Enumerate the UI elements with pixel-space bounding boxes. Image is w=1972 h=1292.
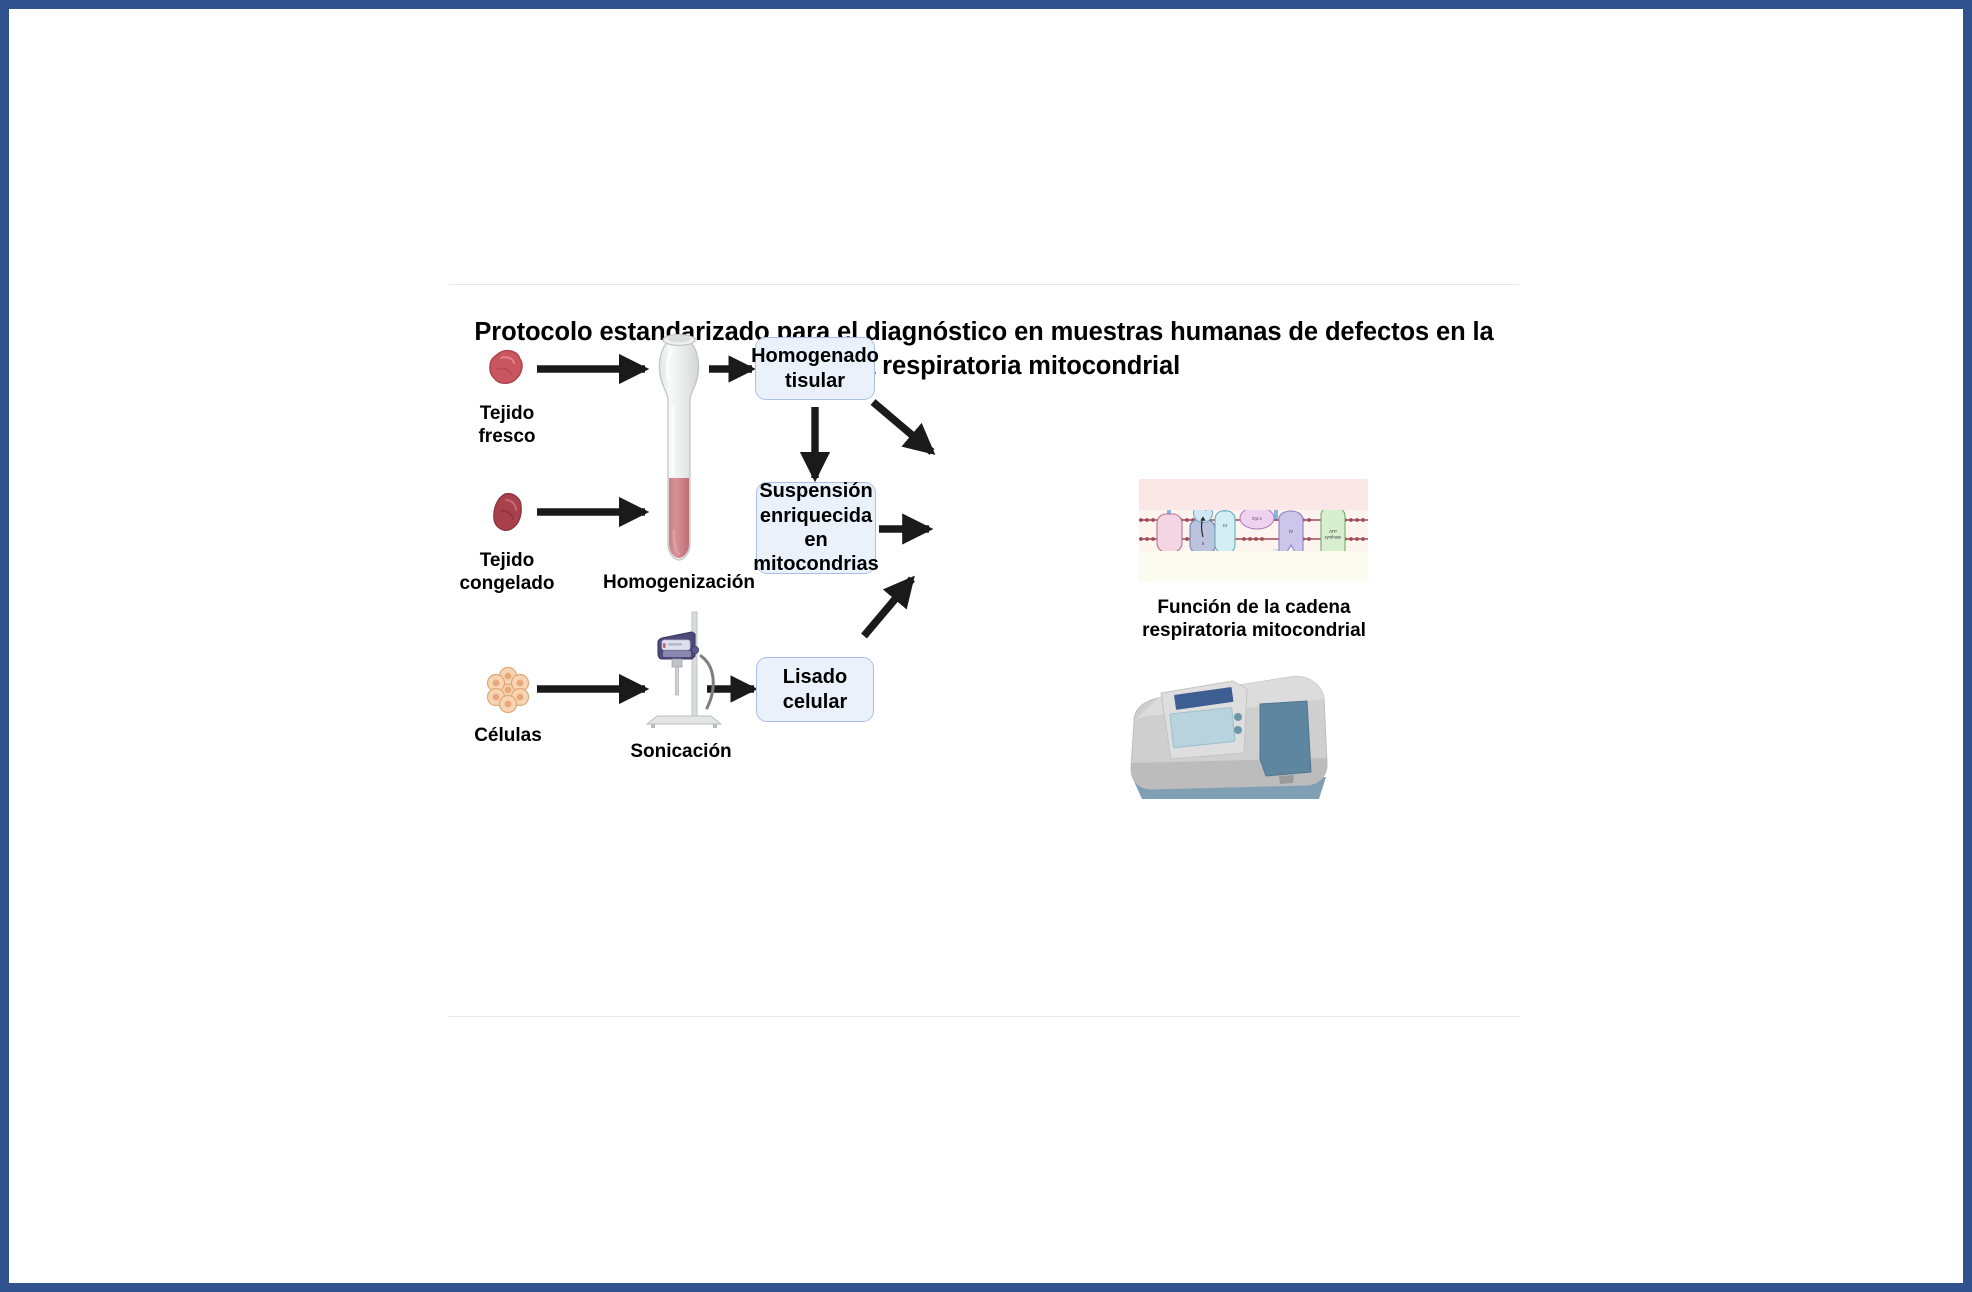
etc-label-complex-iv: IV <box>1289 529 1293 534</box>
label-funcion-cadena-respiratoria: Función de la cadena respiratoria mitoco… <box>1119 596 1389 642</box>
frozen-tissue-icon <box>479 489 539 539</box>
dounce-homogenizer-icon <box>639 326 719 566</box>
etc-complex-iii <box>1215 511 1235 553</box>
figure-title: Protocolo estandarizado para el diagnóst… <box>449 316 1519 384</box>
label-sonicacion: Sonicación <box>581 740 781 763</box>
instrument-button-1 <box>1234 713 1242 721</box>
etc-label-complex-ii: II <box>1202 541 1204 546</box>
label-tejido-fresco: Tejido fresco <box>427 402 587 448</box>
instrument-sample-lid <box>1260 701 1311 776</box>
etc-intermembrane-space <box>1139 479 1368 510</box>
divider-top <box>449 284 1519 285</box>
etc-label-atp-synthase: ATP <box>1329 529 1337 534</box>
sonicator-icon <box>637 604 727 729</box>
label-tejido-congelado: Tejido congelado <box>407 549 607 595</box>
label-homogenizacion: Homogenización <box>579 571 779 594</box>
box-homogenado-tisular[interactable]: Homogenado tisular <box>755 337 875 400</box>
etc-label-cyt-c: Cyt c <box>1252 516 1263 521</box>
figure-sheet: Protocolo estandarizado para el diagnóst… <box>449 274 1519 1019</box>
fresh-tissue-icon <box>477 346 537 394</box>
cell-cluster-icon <box>479 666 537 714</box>
label-celulas: Células <box>428 724 588 747</box>
arrow-layer <box>449 274 1519 1019</box>
arrow-homogenate-to-etc <box>873 402 932 452</box>
page-frame: Protocolo estandarizado para el diagnóst… <box>0 0 1972 1292</box>
etc-label-complex-iii: III <box>1223 523 1227 528</box>
divider-bottom <box>449 1016 1519 1017</box>
etc-label-atp-synthase-2: synthase <box>1325 535 1342 540</box>
box-lisado-celular[interactable]: Lisado celular <box>756 657 874 722</box>
instrument-button-2 <box>1234 726 1242 734</box>
etc-complex-i <box>1157 514 1182 552</box>
arrow-lysate-to-instrument <box>864 579 912 636</box>
box-suspension-mitocondrias[interactable]: Suspensión enriquecida en mitocondrias <box>756 482 876 574</box>
etc-matrix <box>1139 551 1368 582</box>
electron-transport-chain-illustration: II CoQ III Cyt c IV ATP synthase 4H⁺ 4H⁺… <box>1139 479 1368 582</box>
spectrophotometer-icon <box>1114 659 1349 809</box>
